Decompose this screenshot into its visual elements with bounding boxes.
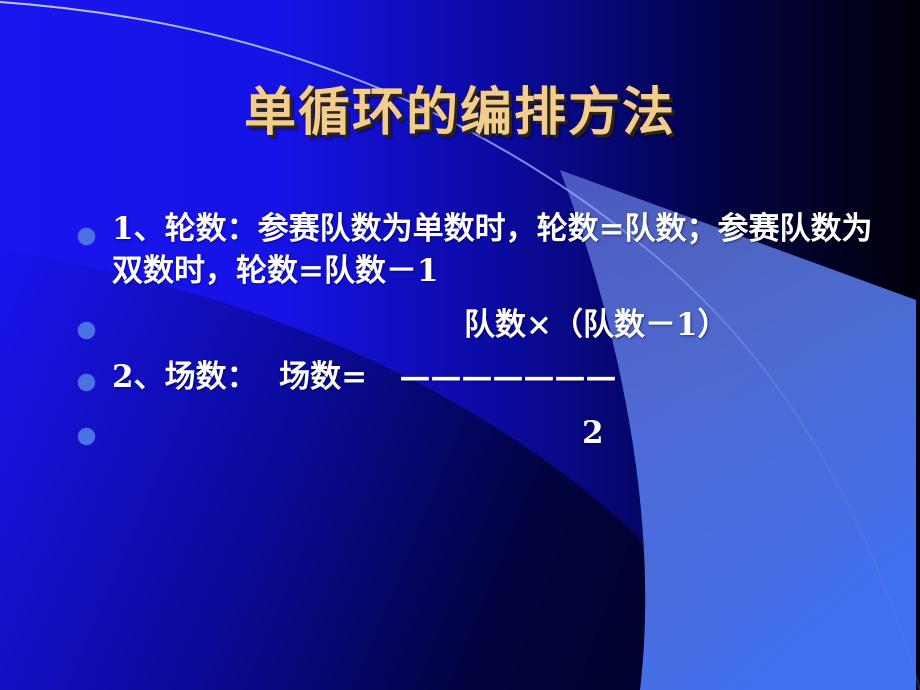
slide-title: 单循环的编排方法 [0, 82, 920, 144]
bullet-dot-icon [78, 228, 95, 245]
bullet-dot-icon [78, 322, 95, 339]
list-item: 2 [78, 412, 878, 464]
presentation-slide: 单循环的编排方法 1、轮数：参赛队数为单数时，轮数=队数；参赛队数为双数时，轮数… [0, 0, 920, 690]
bullet-text-rounds: 1、轮数：参赛队数为单数时，轮数=队数；参赛队数为双数时，轮数=队数－1 [112, 208, 880, 292]
bullet-text-matches: 2、场数： 场数= ——————— [112, 356, 878, 398]
formula-denominator: 2 [112, 412, 878, 454]
bullet-dot-icon [78, 428, 95, 445]
formula-numerator: 队数×（队数－1） [112, 304, 878, 346]
bullet-list: 1、轮数：参赛队数为单数时，轮数=队数；参赛队数为双数时，轮数=队数－1 队数×… [78, 208, 878, 464]
list-item: 1、轮数：参赛队数为单数时，轮数=队数；参赛队数为双数时，轮数=队数－1 [78, 208, 878, 304]
list-item: 2、场数： 场数= ——————— [78, 356, 878, 412]
bullet-dot-icon [78, 374, 95, 391]
list-item: 队数×（队数－1） [78, 304, 878, 356]
